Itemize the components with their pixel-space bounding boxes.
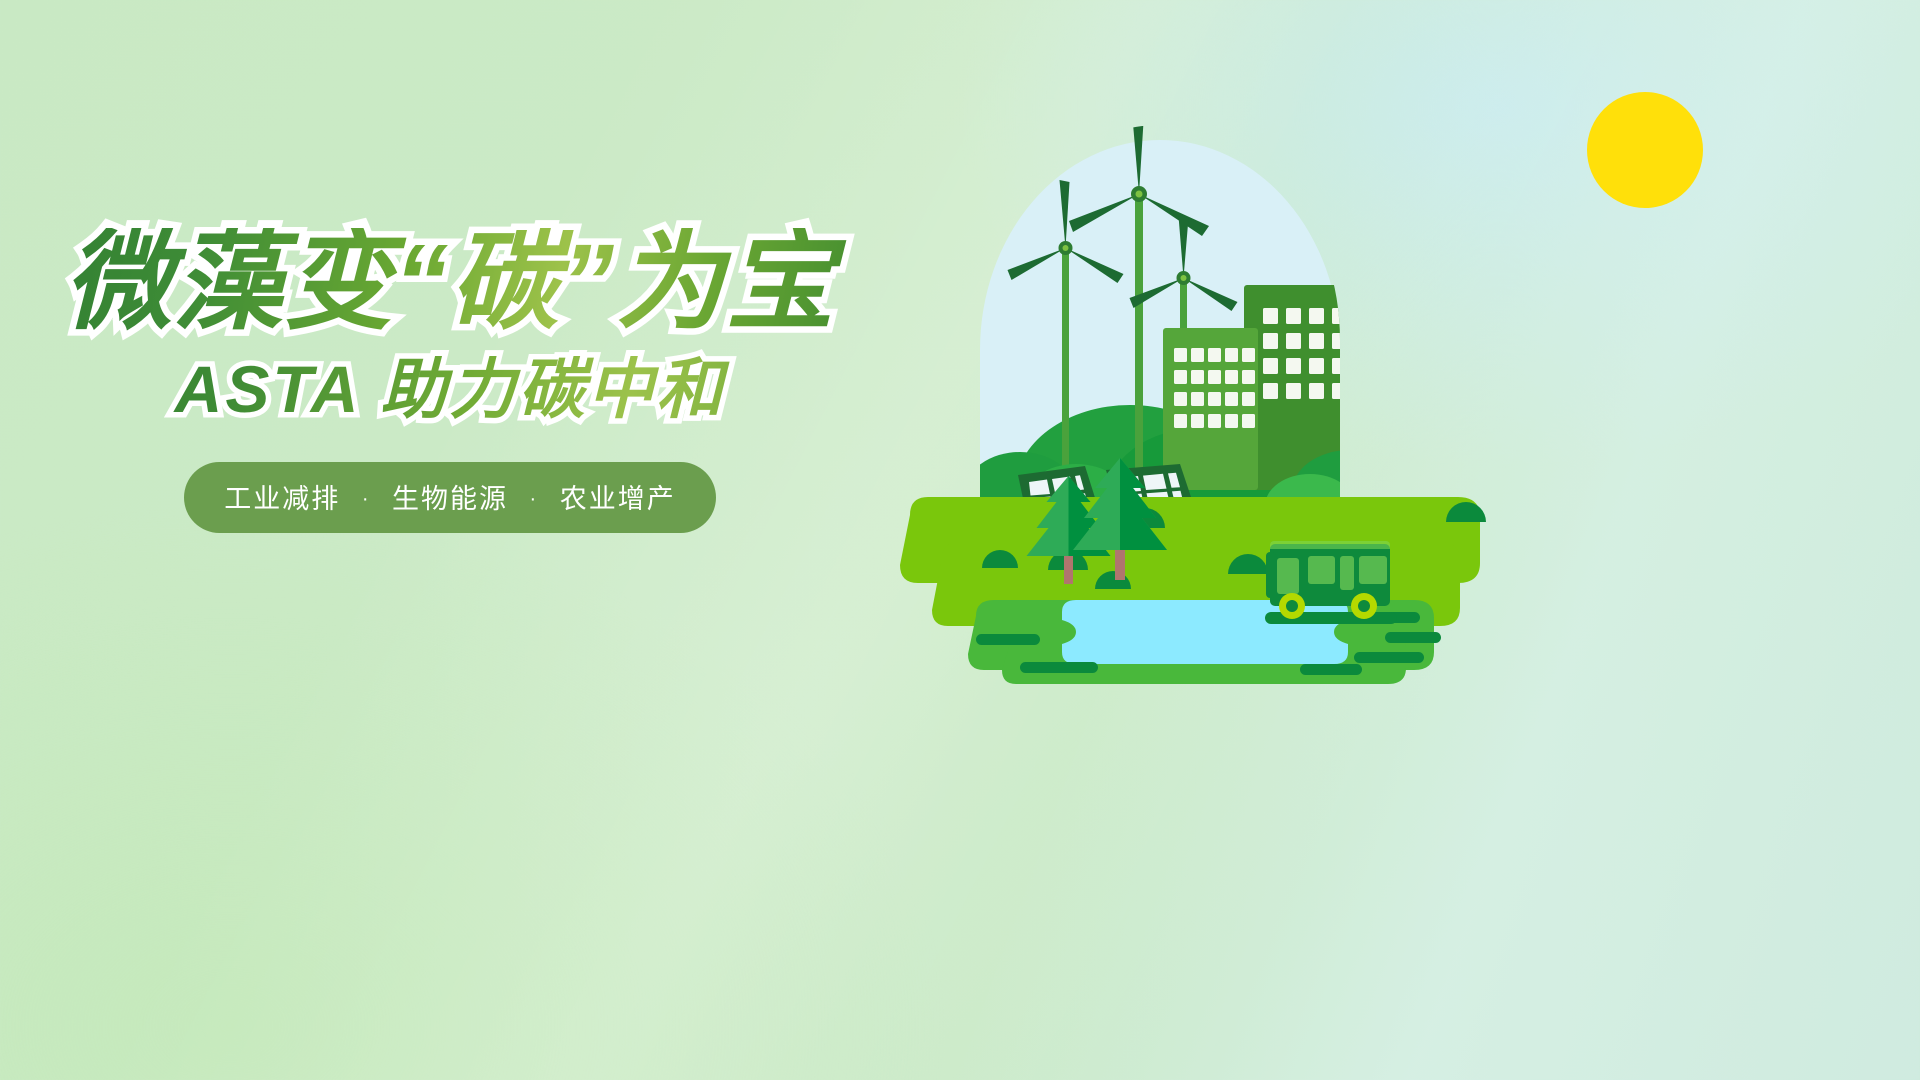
- tagline-separator-2: ·: [518, 488, 551, 510]
- grass-dash: [1020, 662, 1098, 673]
- bus-window: [1308, 556, 1335, 584]
- grass-dash: [1385, 632, 1441, 643]
- headline-block: 微藻变“碳”为宝 微藻变“碳”为宝 ASTA 助力碳中和 ASTA 助力碳中和 …: [0, 228, 900, 533]
- sun-icon: [1587, 92, 1703, 208]
- tagline-item-3: 农业增产: [560, 484, 676, 514]
- bus-window: [1340, 556, 1354, 590]
- grass-dash: [1354, 652, 1424, 663]
- lake: [1062, 600, 1348, 664]
- eco-city-illustration: [880, 60, 1520, 680]
- page-subtitle: ASTA 助力碳中和: [0, 356, 900, 422]
- tagline-item-2: 生物能源: [392, 484, 508, 514]
- grass-dash: [976, 634, 1040, 645]
- poster-stage: 微藻变“碳”为宝 微藻变“碳”为宝 ASTA 助力碳中和 ASTA 助力碳中和 …: [0, 0, 1920, 1080]
- tagline-separator-1: ·: [350, 488, 383, 510]
- subhead-wrapper: ASTA 助力碳中和 ASTA 助力碳中和: [0, 356, 900, 422]
- headline-wrapper: 微藻变“碳”为宝 微藻变“碳”为宝: [0, 228, 900, 336]
- page-title: 微藻变“碳”为宝: [0, 228, 900, 336]
- grass-dash: [1300, 664, 1362, 675]
- bus-window: [1359, 556, 1387, 584]
- tagline-item-1: 工业减排: [224, 484, 340, 514]
- bus-window: [1277, 558, 1299, 594]
- tagline-badge: 工业减排 · 生物能源 · 农业增产: [184, 462, 715, 533]
